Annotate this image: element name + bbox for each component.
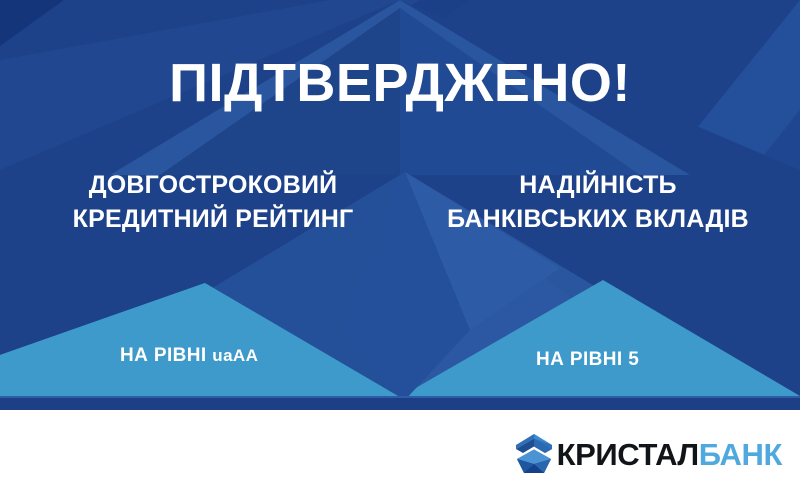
credit-rating-line1: ДОВГОСТРОКОВИЙ — [89, 171, 338, 199]
deposit-reliability-level: НА РІВНІ 5 — [536, 349, 639, 371]
banner-root: ПІДТВЕРДЖЕНО! ДОВГОСТРОКОВИЙ КРЕДИТНИЙ Р… — [0, 0, 800, 500]
crystal-hexagon-icon — [514, 433, 554, 475]
credit-rating-level: НА РІВНІ uaAA — [120, 345, 258, 367]
column-credit-rating-heading: ДОВГОСТРОКОВИЙ КРЕДИТНИЙ РЕЙТИНГ — [18, 168, 408, 236]
deposit-reliability-line1: НАДІЙНІСТЬ — [519, 171, 676, 199]
credit-rating-level-prefix: НА РІВНІ — [120, 345, 207, 366]
deposit-reliability-line2: БАНКІВСЬКИХ ВКЛАДІВ — [402, 202, 794, 236]
deposit-reliability-level-prefix: НА РІВНІ — [536, 349, 623, 370]
column-deposit-reliability-heading: НАДІЙНІСТЬ БАНКІВСЬКИХ ВКЛАДІВ — [402, 168, 794, 236]
logo-word-bank: БАНК — [699, 439, 782, 470]
brand-logo: КРИСТАЛ БАНК — [514, 432, 782, 476]
credit-rating-level-value: uaAA — [212, 346, 258, 365]
bottom-rule-highlight — [0, 396, 800, 398]
credit-rating-line2: КРЕДИТНИЙ РЕЙТИНГ — [18, 202, 408, 236]
logo-word-kristal: КРИСТАЛ — [557, 439, 699, 470]
logo-wordmark: КРИСТАЛ БАНК — [557, 439, 782, 470]
bottom-rule — [0, 398, 800, 410]
deposit-reliability-level-value: 5 — [628, 349, 639, 370]
page-title: ПІДТВЕРДЖЕНО! — [0, 56, 800, 110]
footer-bar: КРИСТАЛ БАНК — [0, 410, 800, 500]
